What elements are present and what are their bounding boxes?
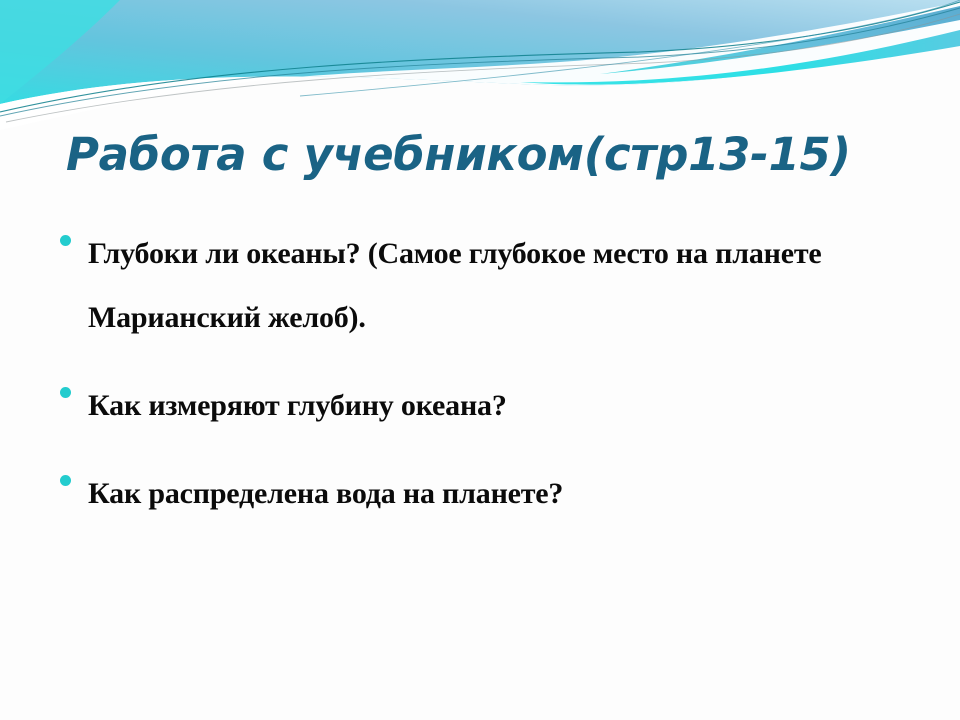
- bullet-list: Глубоки ли океаны? (Самое глубокое место…: [0, 222, 880, 550]
- title-block: Работа с учебником(стр13-15): [0, 124, 960, 194]
- list-item: Как измеряют глубину океана?: [0, 374, 880, 438]
- wave-white-swoosh: [0, 2, 960, 130]
- list-item-text: Как измеряют глубину океана?: [88, 374, 880, 438]
- wave-ribbon-upper: [600, 6, 960, 74]
- list-item-text: Как распределена вода на планете?: [88, 462, 880, 526]
- wave-main-band: [0, 0, 960, 104]
- wave-line-3: [6, 14, 960, 122]
- bullet-dot-icon: [60, 475, 71, 486]
- wave-bright-edge: [520, 30, 960, 85]
- list-item-text: Глубоки ли океаны? (Самое глубокое место…: [88, 222, 880, 350]
- wave-line-1: [0, 2, 960, 112]
- list-item: Глубоки ли океаны? (Самое глубокое место…: [0, 222, 880, 350]
- bullet-dot-icon: [60, 235, 71, 246]
- presentation-slide: Работа с учебником(стр13-15) Глубоки ли …: [0, 0, 960, 720]
- bullet-dot-icon: [60, 387, 71, 398]
- list-item: Как распределена вода на планете?: [0, 462, 880, 526]
- page-title: Работа с учебником(стр13-15): [0, 124, 960, 186]
- wave-line-2: [0, 8, 960, 116]
- wave-line-4: [300, 0, 960, 96]
- wave-banner-decoration: [0, 0, 960, 130]
- wave-left-wedge: [0, 0, 120, 104]
